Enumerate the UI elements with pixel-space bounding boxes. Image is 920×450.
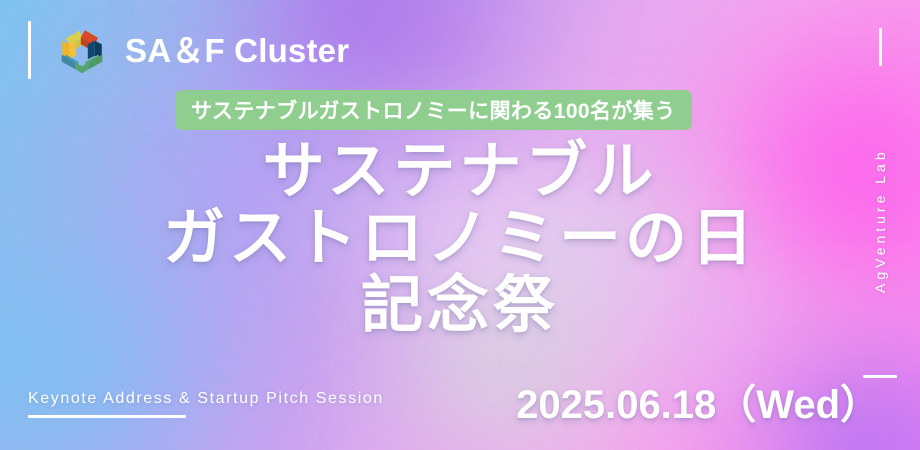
session-label-text: Keynote Address & Startup Pitch Session	[28, 390, 384, 408]
logo-wordmark: SA＆F Cluster	[125, 34, 349, 67]
tagline-text: サステナブルガストロノミーに関わる100名が集う	[191, 95, 676, 125]
session-label: Keynote Address & Startup Pitch Session	[28, 390, 384, 418]
vertical-brand-text: AgVenture Lab	[872, 66, 888, 375]
event-banner: SA＆F Cluster サステナブルガストロノミーに関わる100名が集う サス…	[0, 0, 920, 450]
event-date: 2025.06.18（Wed）	[516, 372, 880, 430]
sa-f-cluster-hexagon-logo-icon	[53, 21, 111, 79]
logo-divider-rule	[28, 21, 31, 79]
background-blob-highlight	[250, 110, 670, 340]
vertical-brand-rule-bottom	[863, 375, 897, 378]
tagline-badge: サステナブルガストロノミーに関わる100名が集う	[175, 90, 692, 130]
session-label-underline	[28, 415, 186, 418]
logo-lockup: SA＆F Cluster	[28, 22, 349, 78]
vertical-brand-rule-top	[879, 28, 882, 66]
vertical-brand: AgVenture Lab	[858, 28, 902, 380]
